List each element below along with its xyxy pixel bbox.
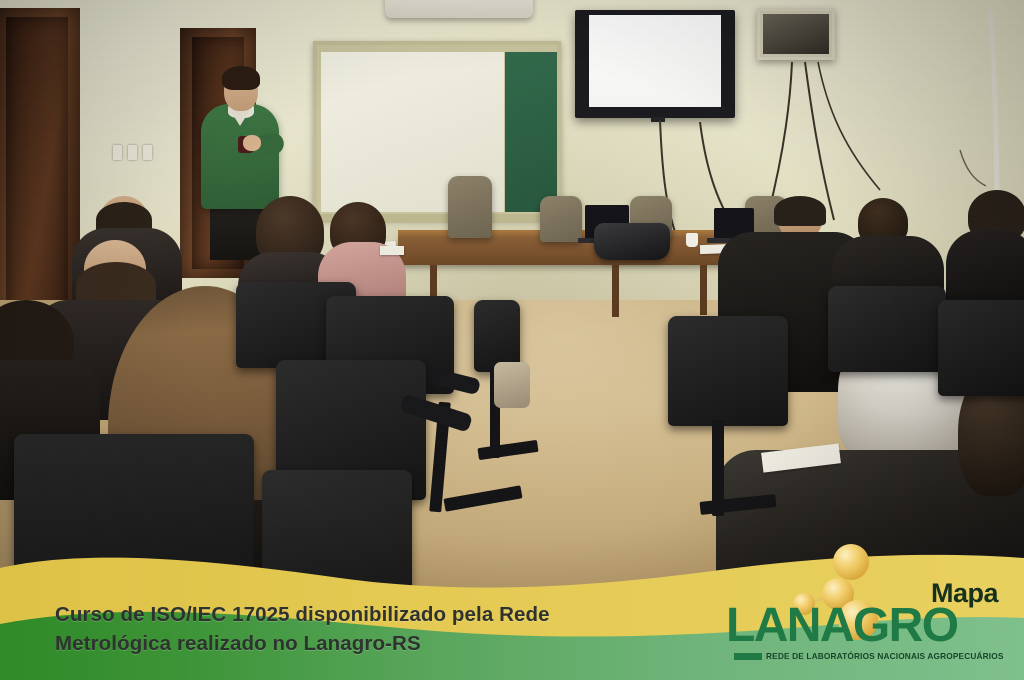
table-leg-2: [612, 265, 619, 317]
chair-right-2: [828, 286, 946, 372]
chair-right-1: [668, 316, 788, 426]
caption-text: Curso de ISO/IEC 17025 disponibilizado p…: [55, 601, 695, 658]
logo-underline-dash: [734, 653, 762, 660]
caption-line-2: Metrológica realizado no Lanagro-RS: [55, 630, 695, 658]
handbag: [494, 362, 530, 408]
logo-brand-text: LANAGRO: [726, 602, 957, 650]
logo-tagline-text: REDE DE LABORATÓRIOS NACIONAIS AGROPECUÁ…: [766, 651, 1004, 661]
caption-line-1: Curso de ISO/IEC 17025 disponibilizado p…: [55, 601, 695, 629]
beige-chair-2: [540, 196, 582, 242]
chair-right-3: [938, 300, 1024, 396]
paper-handheld: [380, 246, 404, 255]
table-leg-3: [700, 265, 707, 315]
beige-chair-1: [448, 176, 492, 238]
lanagro-logo: Mapa LANAGRO REDE DE LABORATÓRIOS NACION…: [716, 544, 1016, 672]
paper-cup: [686, 233, 698, 247]
equipment-bag: [594, 223, 670, 260]
screenshot-root: Curso de ISO/IEC 17025 disponibilizado p…: [0, 0, 1024, 680]
presenter-hand: [243, 135, 261, 151]
presenter-hair: [222, 66, 260, 90]
